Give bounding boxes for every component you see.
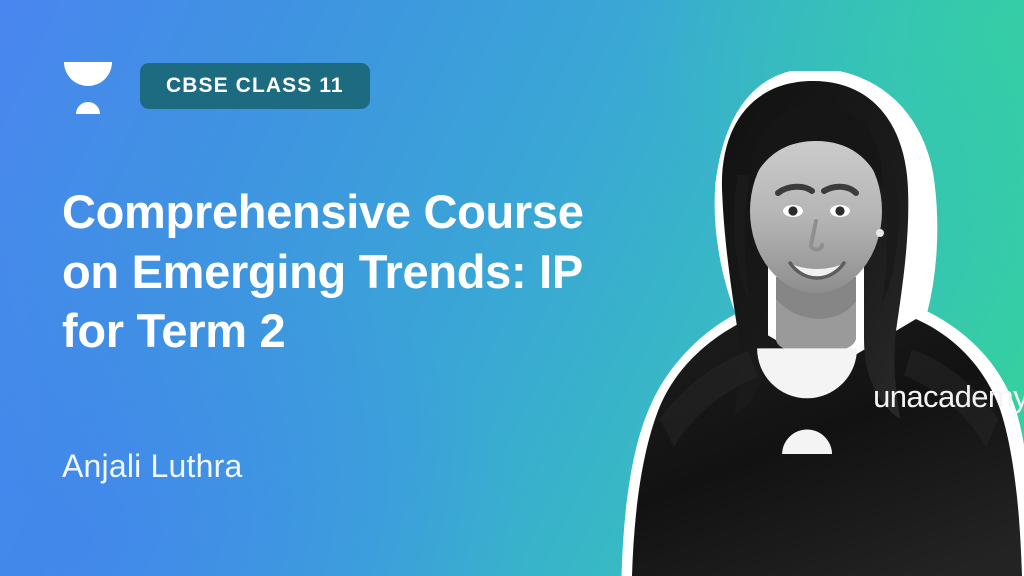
unacademy-bowl-logo-icon — [754, 339, 860, 454]
banner-header: CBSE CLASS 11 — [62, 58, 370, 114]
shirt-wordmark: unacademy — [873, 381, 1024, 412]
course-thumbnail-banner: CBSE CLASS 11 Comprehensive Course on Em… — [0, 0, 1024, 576]
course-title: Comprehensive Course on Emerging Trends:… — [62, 182, 642, 361]
unacademy-bowl-logo-icon — [62, 58, 114, 114]
instructor-name: Anjali Luthra — [62, 448, 243, 485]
educator-portrait: unacademy — [608, 71, 1024, 576]
shirt-brand-lockup: unacademy — [754, 339, 1024, 454]
class-badge: CBSE CLASS 11 — [140, 63, 370, 109]
